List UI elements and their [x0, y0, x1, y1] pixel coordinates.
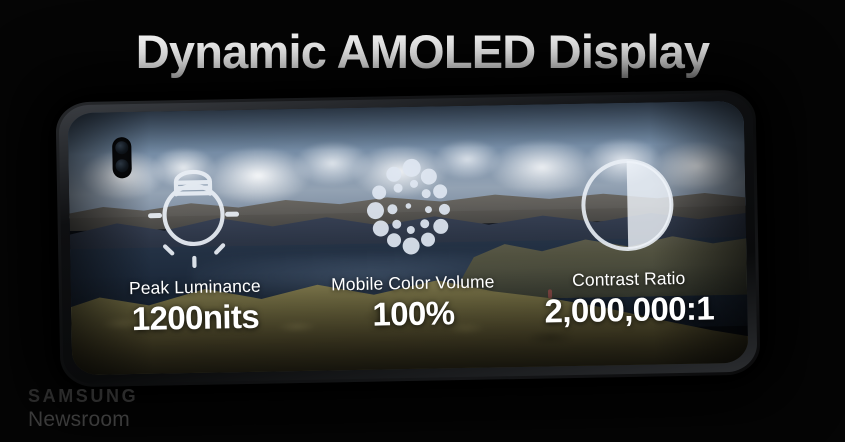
phone-bezel: Peak Luminance 1200nits — [59, 93, 758, 385]
stats-overlay: Peak Luminance 1200nits — [68, 101, 749, 375]
color-volume-dots-icon — [310, 143, 512, 275]
page-title: Dynamic AMOLED Display — [0, 24, 845, 80]
stat-value: 100% — [313, 292, 514, 336]
stat-peak-luminance: Peak Luminance 1200nits — [92, 147, 295, 340]
contrast-half-circle-icon — [526, 139, 728, 271]
stat-value: 2,000,000:1 — [529, 288, 730, 332]
stat-contrast-ratio: Contrast Ratio 2,000,000:1 — [526, 139, 729, 332]
phone-screen: Peak Luminance 1200nits — [68, 101, 749, 375]
stat-value: 1200nits — [95, 296, 296, 340]
lightbulb-icon — [92, 147, 294, 279]
slide-canvas: Dynamic AMOLED Display — [0, 0, 845, 442]
phone-device: Peak Luminance 1200nits — [55, 90, 760, 388]
watermark: SAMSUNG Newsroom — [28, 386, 138, 432]
stat-label: Contrast Ratio — [529, 267, 729, 291]
phone-body: Peak Luminance 1200nits — [55, 90, 760, 388]
samsung-logo: SAMSUNG — [28, 386, 138, 407]
stat-mobile-color-volume: Mobile Color Volume 100% — [310, 143, 513, 336]
newsroom-label: Newsroom — [28, 408, 138, 432]
stat-label: Mobile Color Volume — [313, 271, 513, 295]
stat-label: Peak Luminance — [95, 275, 295, 299]
